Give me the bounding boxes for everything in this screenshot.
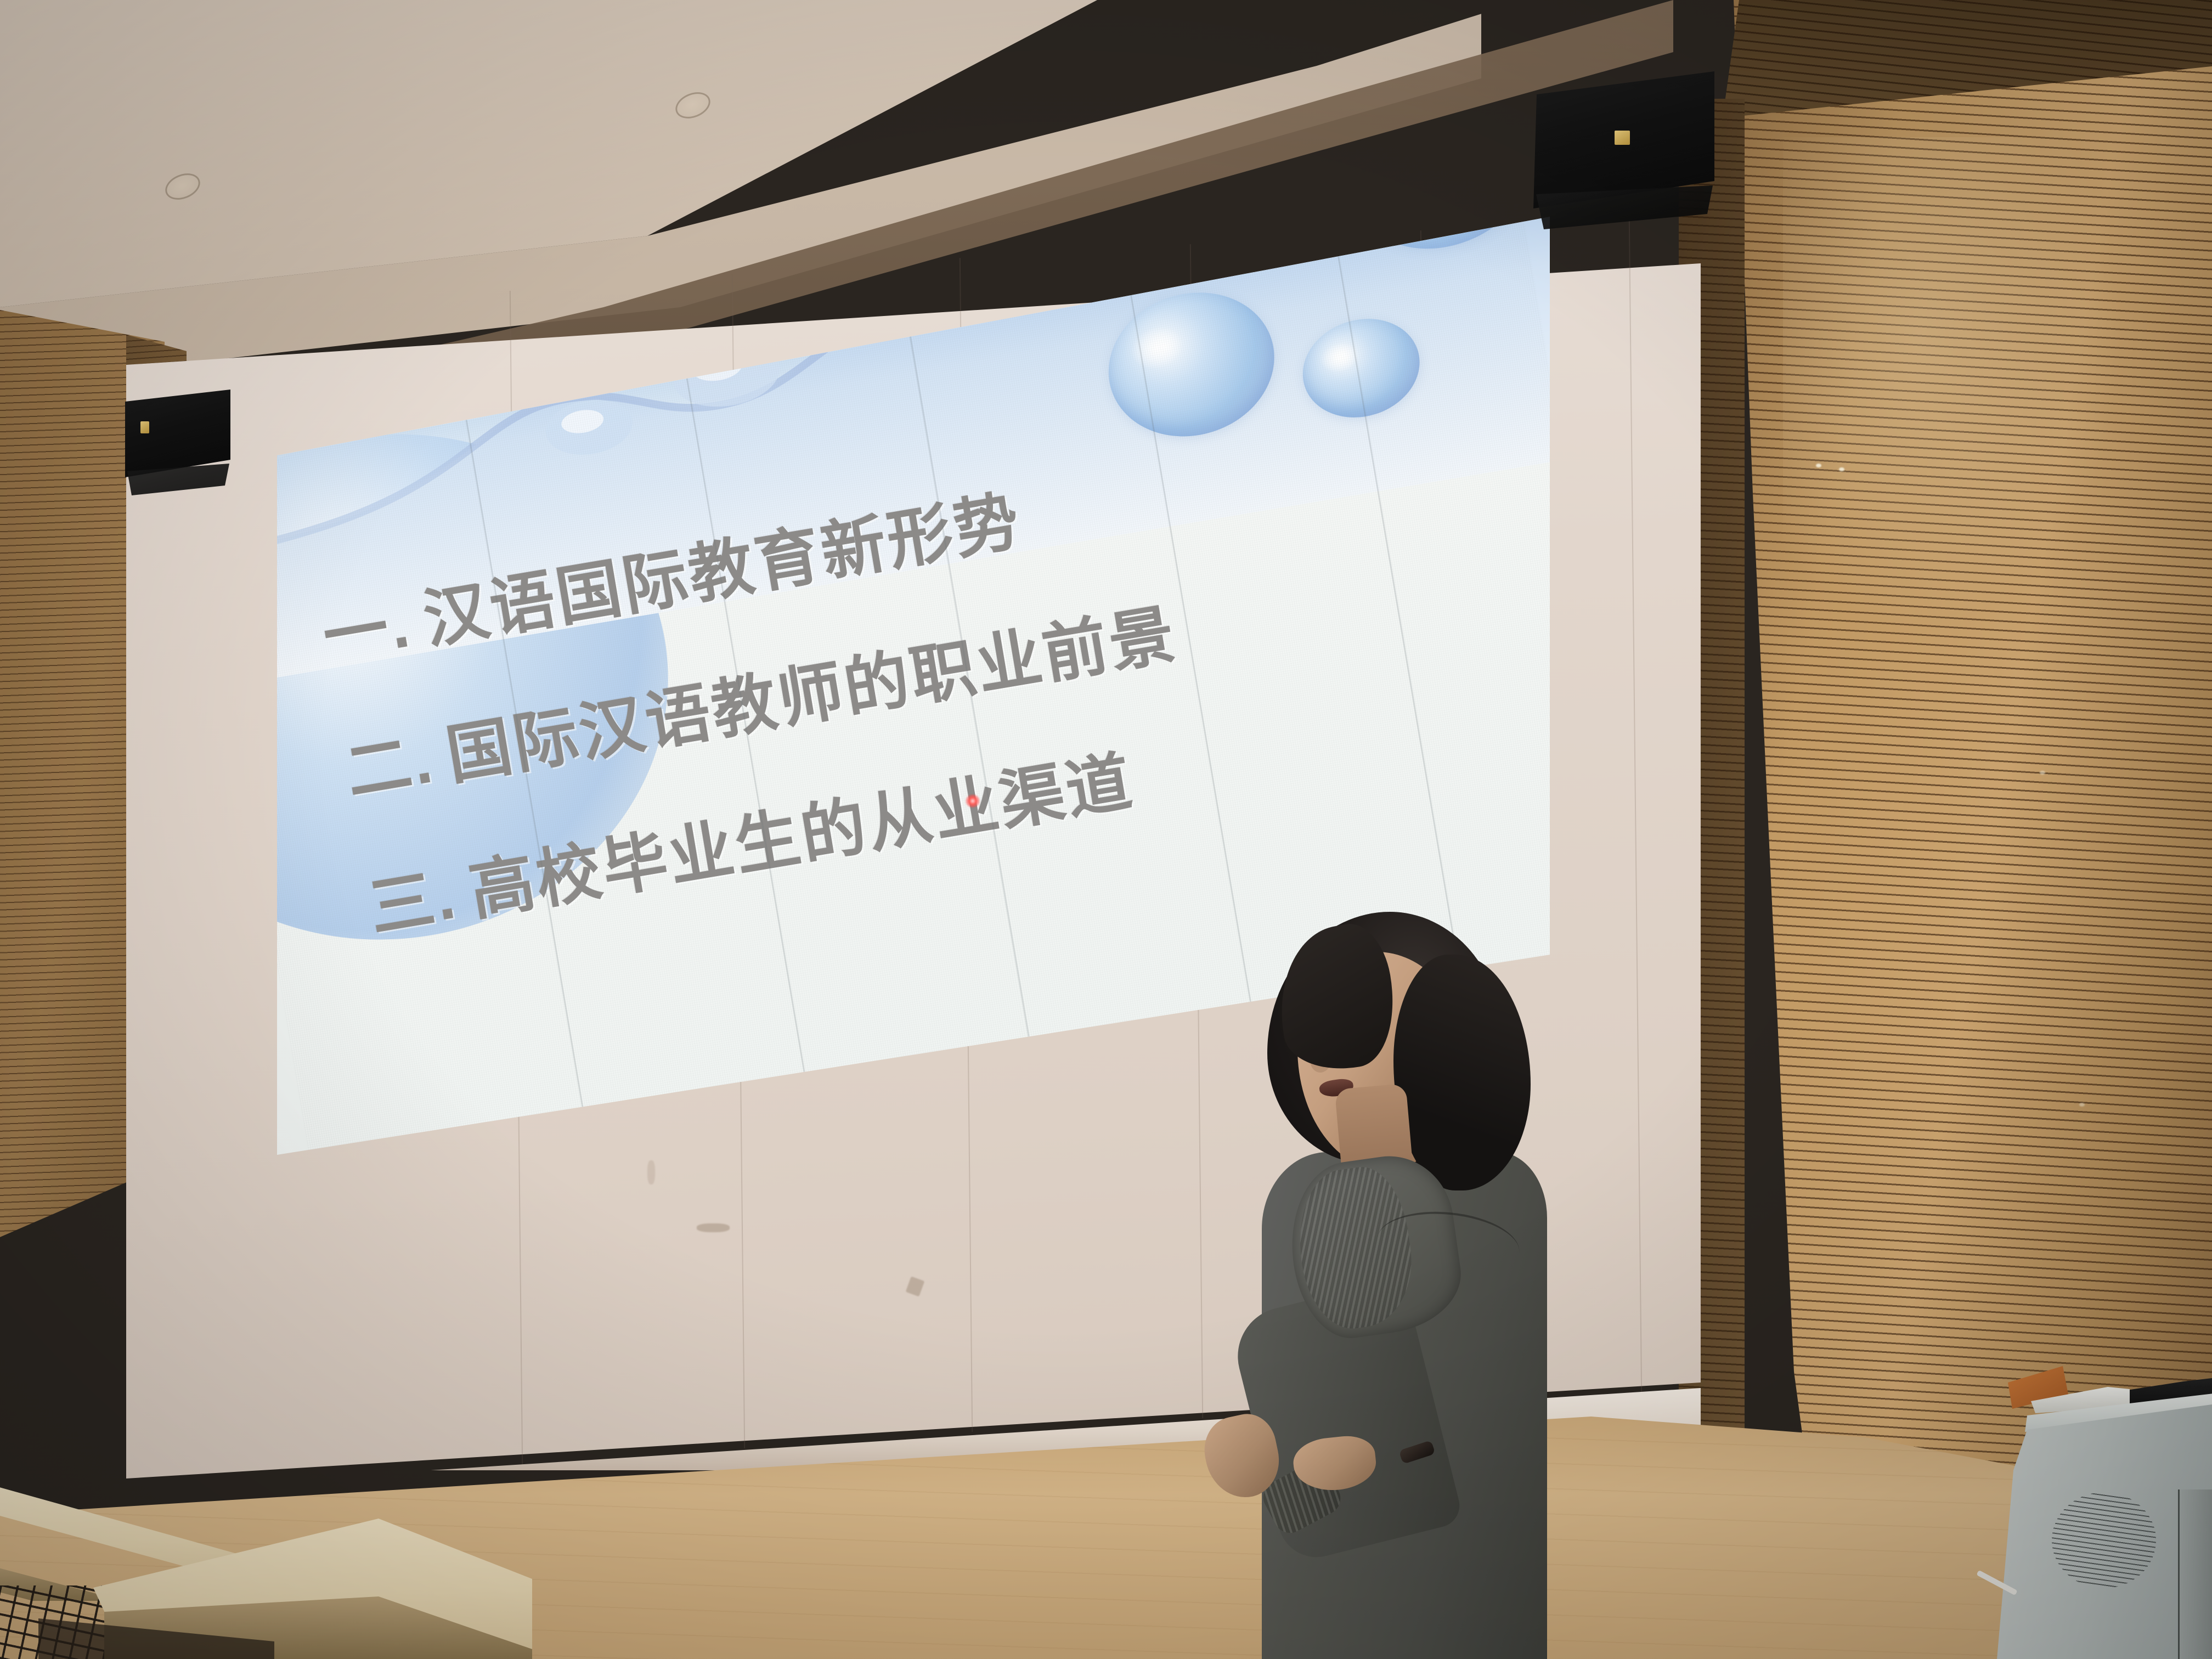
wood-wall-speck: [2040, 771, 2045, 775]
wood-wall-speck: [1839, 467, 1844, 471]
speaker-badge-icon: [1615, 131, 1630, 145]
wall-scuff: [697, 1223, 730, 1232]
wall-scuff: [647, 1160, 655, 1184]
lecture-room-photo: 一.汉语国际教育新形势 二.国际汉语教师的职业前景 三.高校毕业生的从业渠道: [0, 0, 2212, 1659]
cabinet-speaker-grille-icon: [2052, 1492, 2156, 1588]
wood-wall-speck: [2079, 1103, 2085, 1107]
slide-water-droplet: [1346, 217, 1544, 270]
presenter-hair-side: [1393, 955, 1531, 1190]
av-cabinet-side-panel: [2178, 1489, 2212, 1659]
wood-wall-speck: [1816, 464, 1821, 467]
speaker-badge-icon: [140, 421, 149, 433]
presenter: [1196, 922, 1580, 1659]
